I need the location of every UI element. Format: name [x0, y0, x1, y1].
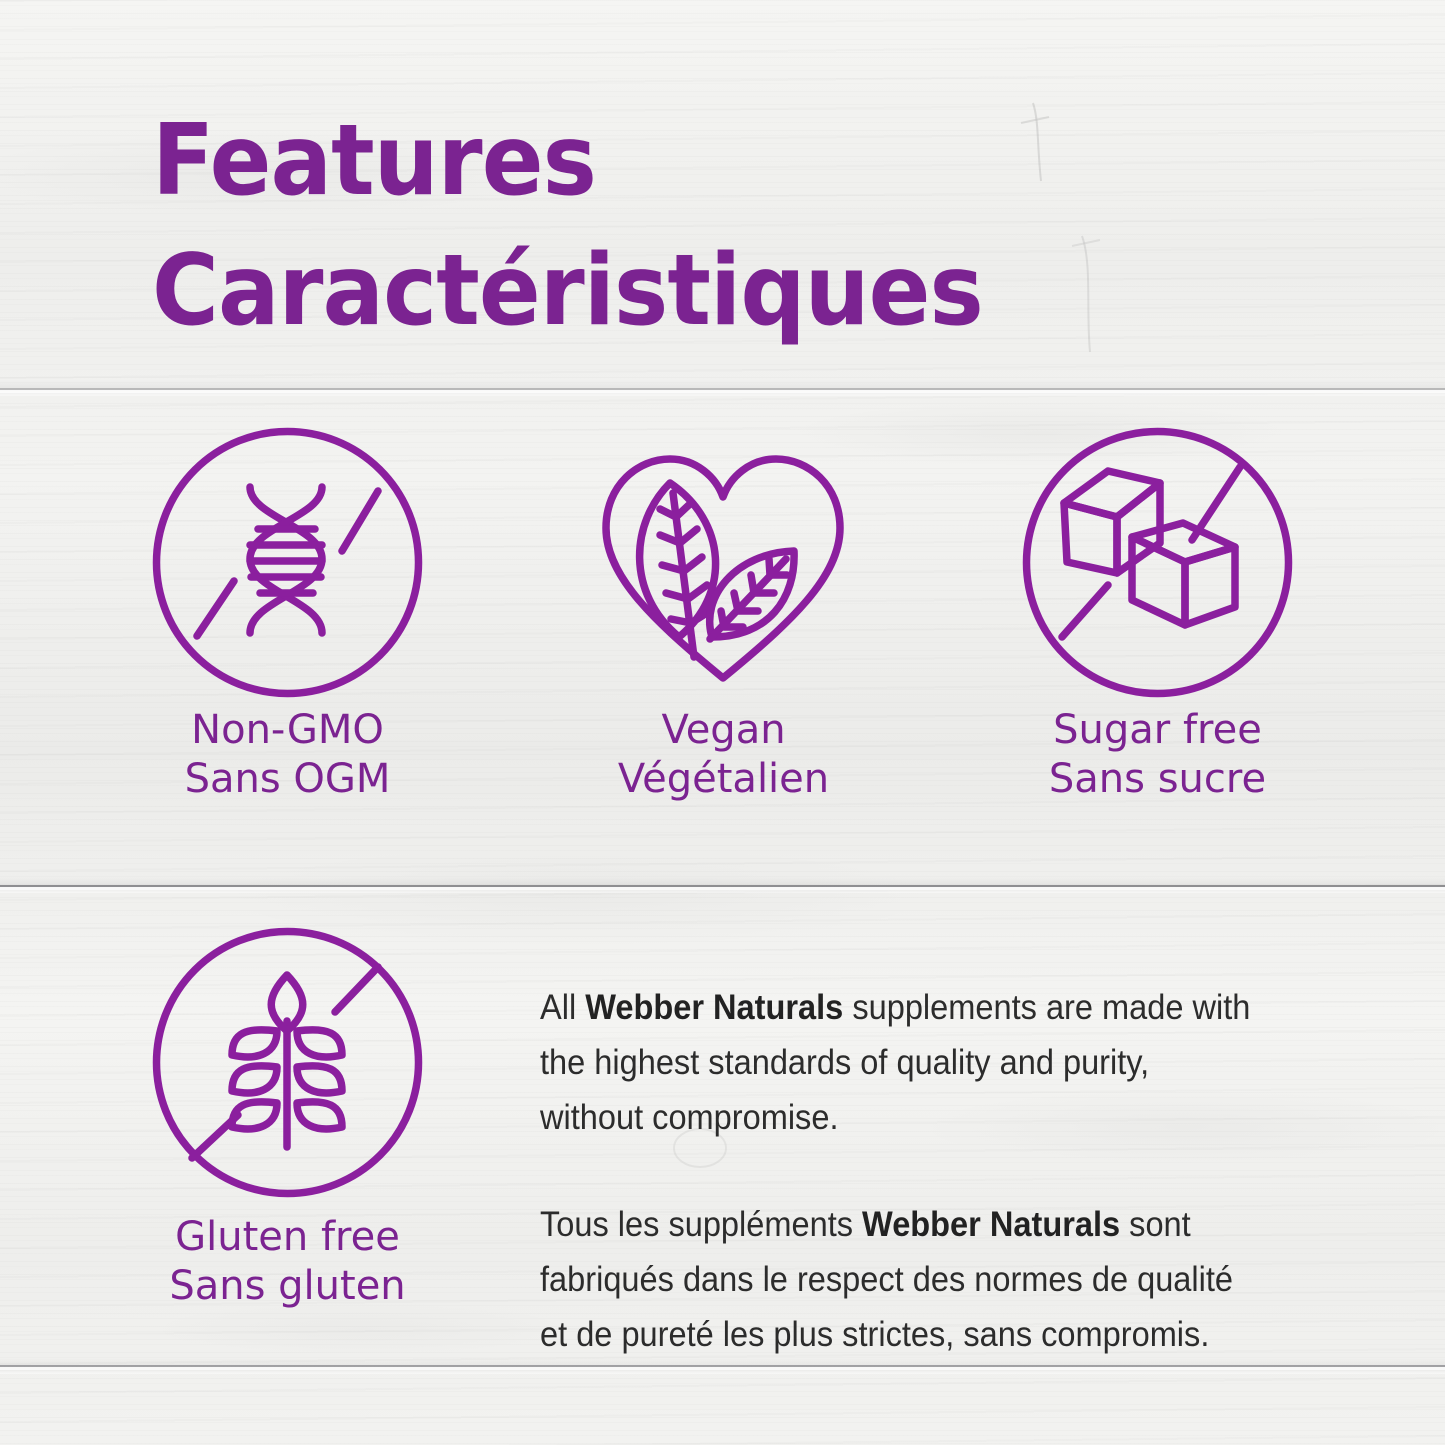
feature-infographic: Features Caractéristiques: [0, 0, 1445, 1445]
feature-label-sugar-free-fr: Sans sucre: [1020, 755, 1295, 804]
no-gmo-dna-icon: [150, 425, 425, 700]
body-fr-brand: Webber Naturals: [862, 1205, 1120, 1244]
feature-label-vegan-en: Vegan: [586, 706, 861, 755]
feature-non-gmo: Non-GMO Sans OGM: [150, 425, 425, 804]
feature-label-non-gmo-fr: Sans OGM: [150, 755, 425, 804]
feature-gluten-free: Gluten free Sans gluten: [150, 925, 425, 1311]
body-paragraph-en: All Webber Naturals supplements are made…: [540, 980, 1315, 1145]
feature-label-non-gmo-en: Non-GMO: [150, 706, 425, 755]
vegan-heart-leaves-icon: [586, 425, 861, 700]
no-gluten-wheat-icon: [150, 925, 425, 1200]
body-fr-lead: Tous les suppléments: [540, 1205, 862, 1244]
body-paragraph-fr: Tous les suppléments Webber Naturals son…: [540, 1197, 1315, 1362]
feature-sugar-free: Sugar free Sans sucre: [1020, 425, 1295, 804]
feature-label-vegan-fr: Végétalien: [586, 755, 861, 804]
body-copy: All Webber Naturals supplements are made…: [540, 980, 1315, 1362]
feature-label-gluten-free-fr: Sans gluten: [150, 1262, 425, 1311]
feature-label-gluten-free-en: Gluten free: [150, 1213, 425, 1262]
page-title: Features Caractéristiques: [152, 96, 1272, 356]
page-title-fr: Caractéristiques: [152, 226, 1194, 356]
body-en-brand: Webber Naturals: [585, 988, 843, 1027]
no-sugar-cubes-icon: [1020, 425, 1295, 700]
page-title-en: Features: [152, 96, 1194, 226]
body-en-lead: All: [540, 988, 585, 1027]
feature-label-sugar-free-en: Sugar free: [1020, 706, 1295, 755]
feature-vegan: Vegan Végétalien: [586, 425, 861, 804]
